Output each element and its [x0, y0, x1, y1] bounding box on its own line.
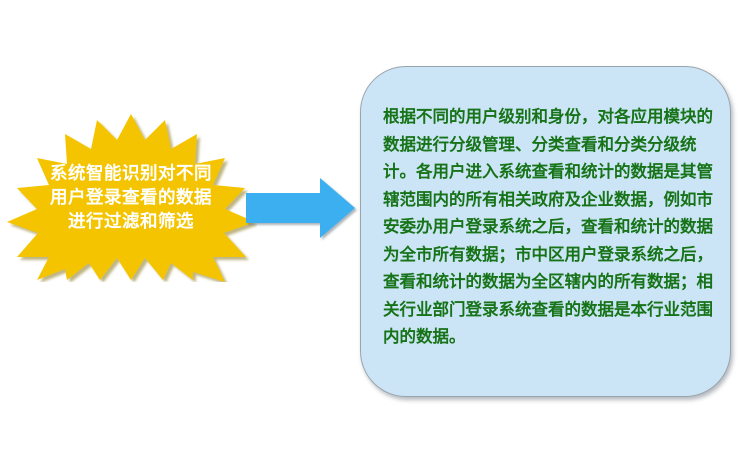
description-text: 根据不同的用户级别和身份，对各应用模块的数据进行分级管理、分类查看和分类分级统计… [383, 104, 713, 352]
starburst-callout[interactable]: 系统智能识别对不同 用户登录查看的数据 进行过滤和筛选 [5, 112, 257, 282]
flow-arrow [243, 176, 359, 242]
diagram-canvas: 系统智能识别对不同 用户登录查看的数据 进行过滤和筛选 根据不同的用户级别和身份… [0, 0, 739, 476]
starburst-shape-icon [5, 112, 257, 282]
right-arrow-icon [243, 176, 359, 242]
description-panel[interactable]: 根据不同的用户级别和身份，对各应用模块的数据进行分级管理、分类查看和分类分级统计… [360, 66, 731, 397]
